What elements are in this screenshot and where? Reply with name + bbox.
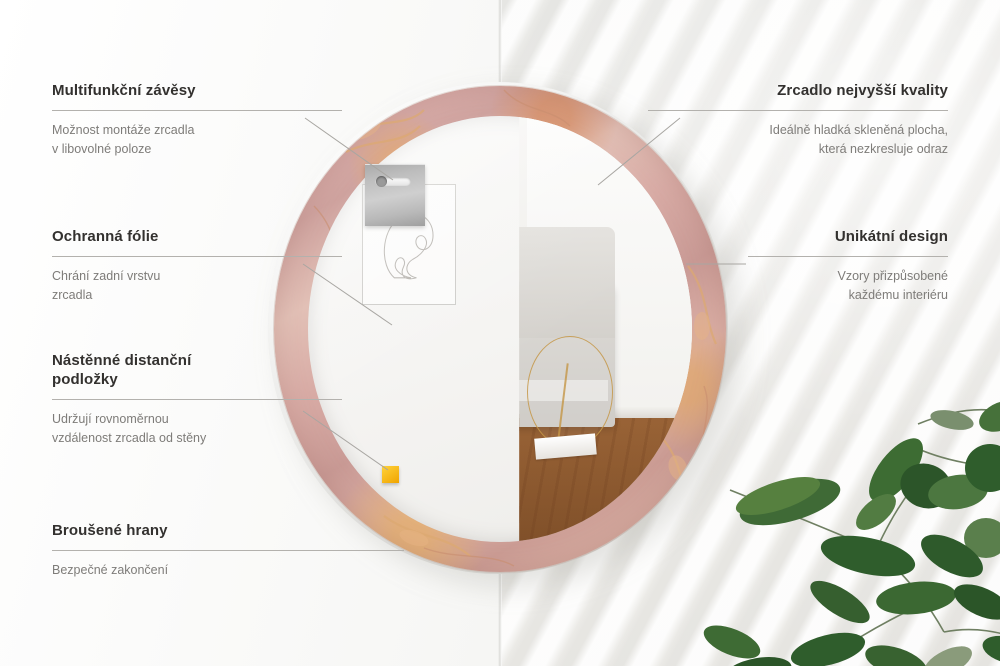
- callout-brousene-hrany: Broušené hrany Bezpečné zakončení: [52, 522, 404, 580]
- callout-description: Možnost montáže zrcadla v libovolné polo…: [52, 121, 342, 160]
- callout-title: Multifunkční závěsy: [52, 82, 342, 101]
- callout-nastenne-distancni-podlozky: Nástěnné distanční podložky Udržují rovn…: [52, 352, 342, 448]
- callout-title: Unikátní design: [748, 228, 948, 247]
- callout-description: Vzory přizpůsobené každému interiéru: [748, 267, 948, 306]
- callout-rule: [52, 256, 342, 257]
- callout-rule: [52, 399, 342, 400]
- infographic-canvas: Multifunkční závěsy Možnost montáže zrca…: [0, 0, 1000, 666]
- callout-description: Bezpečné zakončení: [52, 561, 404, 580]
- hanger-keyhole-slot-icon: [375, 177, 411, 186]
- leaf-branch-icon: [690, 350, 1000, 666]
- callout-description: Chrání zadní vrstvu zrcadla: [52, 267, 342, 306]
- wall-hanger-plate: [365, 164, 425, 226]
- callout-description: Udržují rovnoměrnou vzdálenost zrcadla o…: [52, 410, 342, 449]
- callout-ochranna-folie: Ochranná fólie Chrání zadní vrstvu zrcad…: [52, 228, 342, 306]
- callout-description: Ideálně hladká skleněná plocha, která ne…: [648, 121, 948, 160]
- callout-title: Zrcadlo nejvyšší kvality: [648, 82, 948, 101]
- callout-rule: [52, 110, 342, 111]
- plant-decoration: [690, 350, 1000, 666]
- callout-title: Nástěnné distanční podložky: [52, 352, 342, 390]
- callout-rule: [52, 550, 404, 551]
- callout-multifunkcni-zavesy: Multifunkční závěsy Možnost montáže zrca…: [52, 82, 342, 160]
- callout-title: Broušené hrany: [52, 522, 404, 541]
- callout-zrcadlo-nejvyssi-kvality: Zrcadlo nejvyšší kvality Ideálně hladká …: [648, 82, 948, 160]
- callout-unikatni-design: Unikátní design Vzory přizpůsobené každé…: [748, 228, 948, 306]
- yellow-spacer-pad: [382, 466, 399, 483]
- callout-rule: [648, 110, 948, 111]
- callout-rule: [748, 256, 948, 257]
- callout-title: Ochranná fólie: [52, 228, 342, 247]
